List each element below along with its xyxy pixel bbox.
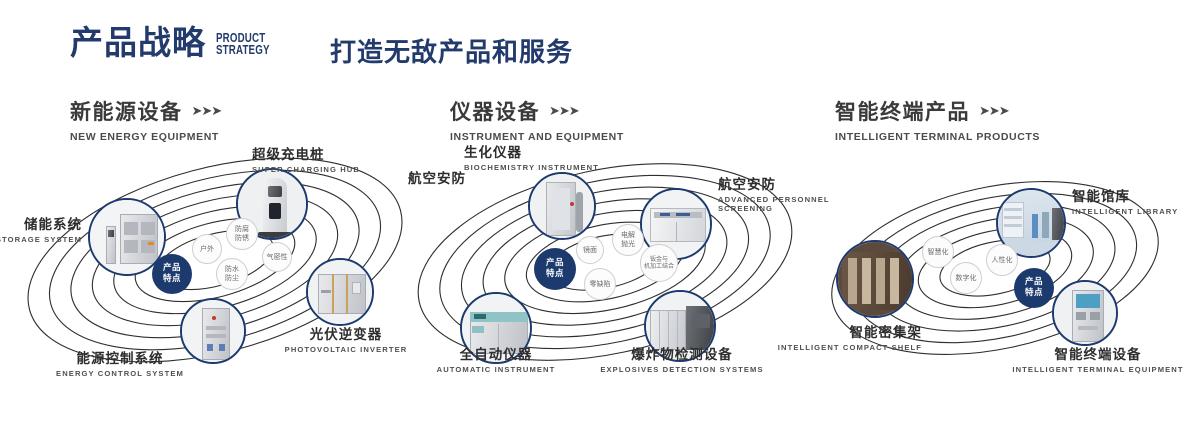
feature-bubble-intelligent[interactable]: 智慧化	[922, 236, 954, 268]
label-cn: 全自动仪器	[406, 348, 586, 364]
core-line1: 产品	[1025, 277, 1043, 288]
section-heading-intelligent-terminal: 智能终端产品 ➤➤➤ INTELLIGENT TERMINAL PRODUCTS	[835, 96, 1040, 143]
core-line1: 产品	[546, 258, 564, 269]
brand-title-en: PRODUCT STRATEGY	[216, 32, 270, 58]
bubble-line1: 电解	[621, 231, 635, 240]
bubble-line1: 数字化	[956, 274, 977, 283]
bubble-line1: 防腐	[235, 225, 249, 234]
feature-bubble-sheetmetal-machining[interactable]: 钣金与 机加工结合	[640, 244, 678, 282]
bubble-line2: 防锈	[235, 234, 249, 243]
label-cn: 智能终端设备	[998, 348, 1198, 364]
core-line2: 特点	[1025, 288, 1043, 299]
label-cn: 能源控制系统	[20, 352, 220, 368]
bubble-line1: 防水	[225, 265, 239, 274]
label-automatic-instrument: 全自动仪器 AUTOMATIC INSTRUMENT	[406, 348, 586, 375]
bubble-line1: 人性化	[992, 256, 1013, 265]
node-biochemistry-instrument[interactable]	[528, 172, 596, 240]
node-intelligent-compact-shelf[interactable]	[836, 240, 914, 318]
label-en: SUPER CHARGING HUB	[252, 166, 402, 175]
core-line2: 特点	[163, 274, 181, 285]
label-en: INTELLIGENT COMPACT SHELF	[732, 344, 922, 353]
core-line2: 特点	[546, 269, 564, 280]
feature-bubble-anticorrosion[interactable]: 防腐 防锈	[226, 218, 258, 250]
header-slogan: 打造无敌产品和服务	[330, 32, 573, 69]
bubble-line1: 智慧化	[928, 248, 949, 257]
panel-new-energy-equipment: 储能系统 ENERGY STORAGE SYSTEM 超级充电桩 SUPER C…	[0, 150, 430, 422]
label-cn: 光伏逆变器	[276, 328, 416, 344]
label-cn: 智能馆库	[1072, 190, 1200, 206]
bubble-line2: 机加工结合	[644, 263, 674, 271]
label-cn: 生化仪器	[464, 146, 604, 162]
bubble-line2: 抛光	[621, 240, 635, 249]
label-photovoltaic-inverter: 光伏逆变器 PHOTOVOLTAIC INVERTER	[276, 328, 416, 355]
node-intelligent-terminal-equipment[interactable]	[1052, 280, 1118, 346]
label-en: EXPLOSIVES DETECTION SYSTEMS	[582, 366, 782, 375]
feature-bubble-humanized[interactable]: 人性化	[986, 244, 1018, 276]
chevron-right-icon: ➤➤➤	[979, 103, 1009, 119]
feature-bubble-mirror-finish[interactable]: 镜面	[576, 236, 604, 264]
label-super-charging-hub: 超级充电桩 SUPER CHARGING HUB	[252, 148, 402, 175]
label-en: PHOTOVOLTAIC INVERTER	[276, 346, 416, 355]
bubble-line1: 镜面	[583, 246, 597, 255]
feature-bubble-electropolishing[interactable]: 电解 抛光	[612, 224, 644, 256]
feature-bubble-zero-defect[interactable]: 零缺陷	[584, 268, 616, 300]
panel-intelligent-terminal-products: 智能馆库 INTELLIGENT LIBRARY 智能密集架 INTELLIGE…	[800, 150, 1200, 422]
label-energy-storage-system: 储能系统 ENERGY STORAGE SYSTEM	[0, 218, 82, 245]
label-energy-control-system: 能源控制系统 ENERGY CONTROL SYSTEM	[20, 352, 220, 379]
panel-instrument-and-equipment: 航空安防 生化仪器 BIOCHEMISTRY INSTRUMENT 航空安防 A…	[400, 150, 820, 422]
bubble-line1: 零缺陷	[590, 280, 611, 289]
core-bubble-product-features[interactable]: 产品 特点	[152, 254, 192, 294]
label-cn: 超级充电桩	[252, 148, 402, 164]
section-title-cn: 新能源设备	[70, 96, 183, 126]
label-en: AUTOMATIC INSTRUMENT	[406, 366, 586, 375]
core-bubble-product-features[interactable]: 产品 特点	[1014, 268, 1054, 308]
label-biochemistry-instrument: 生化仪器 BIOCHEMISTRY INSTRUMENT	[464, 146, 604, 173]
section-title-cn: 智能终端产品	[835, 96, 970, 126]
label-en: BIOCHEMISTRY INSTRUMENT	[464, 164, 604, 173]
label-intelligent-compact-shelf: 智能密集架 INTELLIGENT COMPACT SHELF	[732, 326, 922, 353]
page-header: 产品战略 PRODUCT STRATEGY	[70, 26, 285, 59]
node-photovoltaic-inverter[interactable]	[306, 258, 374, 326]
section-title-cn: 仪器设备	[450, 96, 540, 126]
feature-bubble-digital[interactable]: 数字化	[950, 262, 982, 294]
label-intelligent-terminal-equipment: 智能终端设备 INTELLIGENT TERMINAL EQUIPMENT	[998, 348, 1198, 375]
brand-en-line1: PRODUCT	[216, 32, 270, 45]
core-bubble-product-features[interactable]: 产品 特点	[534, 248, 576, 290]
brand-en-line2: STRATEGY	[216, 44, 270, 57]
label-aviation-security-left: 航空安防	[408, 172, 518, 188]
label-cn: 储能系统	[0, 218, 82, 234]
feature-bubble-airtight[interactable]: 气密性	[262, 242, 292, 272]
brand-title-cn: 产品战略	[70, 26, 206, 59]
bubble-line1: 气密性	[267, 253, 288, 262]
label-cn: 智能密集架	[732, 326, 922, 342]
bubble-line2: 防尘	[225, 274, 239, 283]
feature-bubble-outdoor[interactable]: 户外	[192, 234, 222, 264]
label-en: INTELLIGENT TERMINAL EQUIPMENT	[998, 366, 1198, 375]
label-cn: 航空安防	[408, 172, 518, 188]
bubble-line1: 钣金与	[650, 256, 668, 264]
section-title-en: INSTRUMENT AND EQUIPMENT	[450, 131, 624, 143]
section-title-en: INTELLIGENT TERMINAL PRODUCTS	[835, 131, 1040, 143]
feature-bubble-waterproof[interactable]: 防水 防尘	[216, 258, 248, 290]
label-en: ENERGY CONTROL SYSTEM	[20, 370, 220, 379]
section-heading-new-energy: 新能源设备 ➤➤➤ NEW ENERGY EQUIPMENT	[70, 96, 221, 143]
core-line1: 产品	[163, 263, 181, 274]
chevron-right-icon: ➤➤➤	[549, 103, 579, 119]
label-intelligent-library: 智能馆库 INTELLIGENT LIBRARY	[1072, 190, 1200, 217]
chevron-right-icon: ➤➤➤	[192, 103, 222, 119]
label-en: ENERGY STORAGE SYSTEM	[0, 236, 82, 245]
bubble-line1: 户外	[200, 245, 214, 254]
section-heading-instrument: 仪器设备 ➤➤➤ INSTRUMENT AND EQUIPMENT	[450, 96, 624, 143]
label-en: INTELLIGENT LIBRARY	[1072, 208, 1200, 217]
section-title-en: NEW ENERGY EQUIPMENT	[70, 131, 221, 143]
